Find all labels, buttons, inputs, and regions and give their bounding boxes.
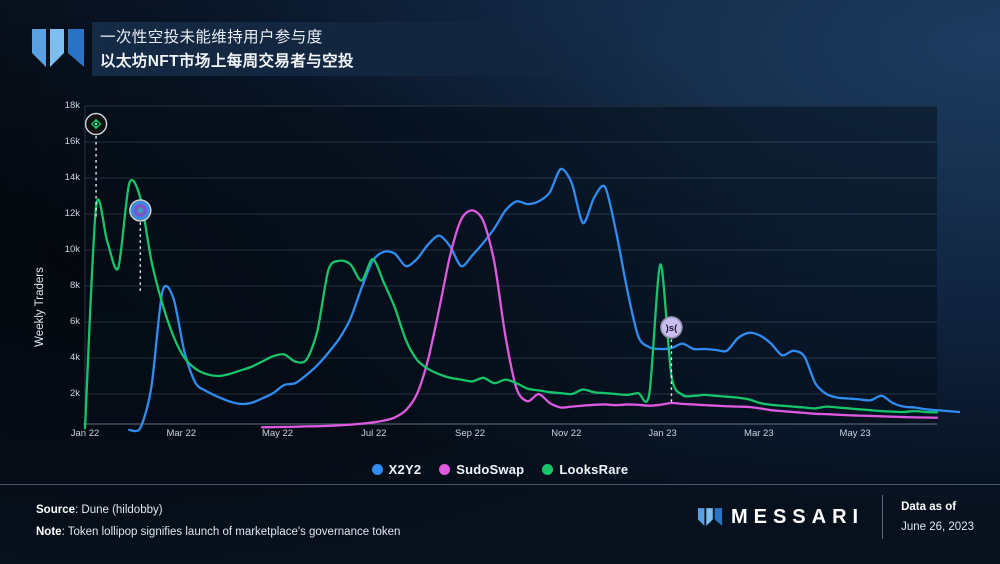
note-line: Note: Token lollipop signifies launch of… (36, 521, 400, 543)
x-tick-mar-23: Mar 23 (744, 428, 774, 439)
note-label: Note (36, 526, 62, 538)
legend-label: X2Y2 (389, 462, 422, 477)
chart-legend: X2Y2SudoSwapLooksRare (0, 458, 1000, 480)
legend-color-dot (439, 464, 450, 475)
legend-color-dot (542, 464, 553, 475)
header: 一次性空投未能维持用户参与度 以太坊NFT市场上每周交易者与空投 (0, 0, 1000, 92)
note-value: : Token lollipop signifies launch of mar… (62, 526, 401, 538)
footer-divider (882, 495, 883, 539)
data-as-of-label: Data as of (901, 497, 974, 517)
x-tick-jul-22: Jul 22 (361, 428, 386, 439)
source-line: Source: Dune (hildobby) (36, 499, 400, 521)
messari-footer-logo: MESSARI (697, 506, 864, 529)
x-tick-may-23: May 23 (840, 428, 871, 439)
footer-notes: Source: Dune (hildobby) Note: Token loll… (36, 499, 400, 543)
chart-area: Weekly Traders 2k4k6k8k10k12k14k16k18k )… (0, 92, 1000, 454)
x-tick-jan-23: Jan 23 (648, 428, 677, 439)
x-axis-ticks: Jan 22Mar 22May 22Jul 22Sep 22Nov 22Jan … (0, 428, 1000, 448)
footer-brand-block: MESSARI Data as of June 26, 2023 (697, 495, 974, 539)
x-tick-nov-22: Nov 22 (551, 428, 581, 439)
messari-logo-icon-small (697, 506, 723, 528)
data-as-of-value: June 26, 2023 (901, 517, 974, 537)
x-tick-jan-22: Jan 22 (71, 428, 100, 439)
legend-item-x2y2[interactable]: X2Y2 (372, 462, 422, 477)
x-tick-sep-22: Sep 22 (455, 428, 485, 439)
page-subtitle: 以太坊NFT市场上每周交易者与空投 (100, 50, 652, 74)
legend-label: SudoSwap (456, 462, 524, 477)
plot-svg: )s( (0, 92, 1000, 454)
legend-item-sudoswap[interactable]: SudoSwap (439, 462, 524, 477)
messari-logo-icon (30, 27, 86, 69)
chart-canvas: 一次性空投未能维持用户参与度 以太坊NFT市场上每周交易者与空投 Weekly … (0, 0, 1000, 564)
sudoswap-token-icon: )s( (666, 323, 678, 334)
brand-wordmark: MESSARI (731, 506, 864, 529)
source-label: Source (36, 504, 75, 516)
page-title: 一次性空投未能维持用户参与度 (100, 26, 652, 50)
x-tick-mar-22: Mar 22 (166, 428, 196, 439)
source-value: : Dune (hildobby) (75, 504, 163, 516)
x-tick-may-22: May 22 (262, 428, 293, 439)
footer: Source: Dune (hildobby) Note: Token loll… (0, 484, 1000, 564)
data-as-of: Data as of June 26, 2023 (901, 497, 974, 537)
legend-label: LooksRare (559, 462, 628, 477)
title-box: 一次性空投未能维持用户参与度 以太坊NFT市场上每周交易者与空投 (92, 22, 652, 76)
legend-color-dot (372, 464, 383, 475)
legend-item-looksrare[interactable]: LooksRare (542, 462, 628, 477)
